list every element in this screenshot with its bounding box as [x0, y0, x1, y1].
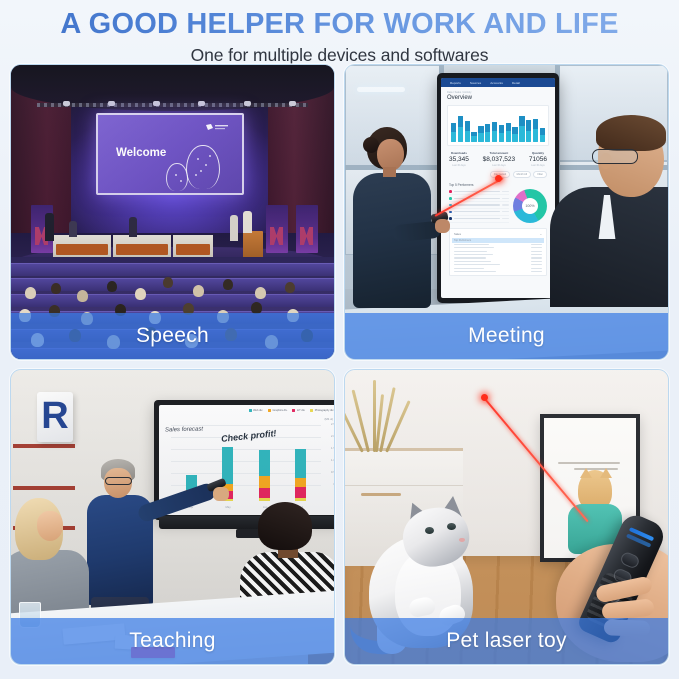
presenter-woman [353, 127, 453, 317]
y-tick-2-5: 2.5 [331, 422, 334, 426]
y-tick-1-0: 1.0 [331, 458, 334, 462]
slide-headline: Welcome [116, 147, 166, 159]
kpi-total-amount: Total amount $8,037,523 Last 30 days [483, 151, 516, 167]
panel-pet-laser-toy[interactable]: Pet laser toy [344, 369, 669, 665]
legend-item-iot: IoT div. [292, 409, 305, 412]
list-item[interactable] [449, 209, 509, 216]
list-item[interactable] [449, 216, 509, 223]
attendee-man [514, 119, 668, 319]
panel-meeting[interactable]: Reports Sources Accounts Detail Data / S… [344, 64, 669, 360]
chart-y-unit: (Mil. £) [324, 417, 333, 421]
tab-detail[interactable]: Detail [512, 81, 520, 85]
kpi-total-amount-value: $8,037,523 [483, 156, 516, 163]
page-title: A GOOD HELPER FOR WORK AND LIFE [0, 9, 679, 39]
presentation-screen: Welcome [96, 113, 244, 195]
glasses-icon [105, 477, 132, 485]
panel-speech[interactable]: Welcome [10, 64, 335, 360]
performer-list [449, 189, 509, 223]
kpi-total-amount-sub: Last 30 days [483, 164, 516, 167]
panel-caption-speech: Speech [11, 313, 334, 359]
bar-jul [295, 449, 306, 501]
page-header: A GOOD HELPER FOR WORK AND LIFE One for … [0, 0, 679, 66]
y-tick-1-5: 1.5 [331, 446, 334, 450]
dashboard-kicker: Data / Sales / Activity [447, 91, 549, 94]
laser-dot [495, 175, 502, 182]
chart-legend: Web div. Graphics div. IoT div. Photogra… [249, 409, 334, 412]
bar-jun [259, 450, 270, 501]
decor-letter-r: R [37, 392, 73, 442]
kpi-total-amount-label: Total amount [483, 151, 516, 155]
remote-up-button[interactable] [619, 551, 641, 570]
panel-caption-meeting: Meeting [345, 313, 668, 359]
dried-plant [353, 376, 395, 452]
panel-teaching[interactable]: R Web div. Graphics div. IoT div. Photog… [10, 369, 335, 665]
slide-logo-icon [204, 123, 230, 133]
dashboard-tabbar[interactable]: Reports Sources Accounts Detail [441, 78, 555, 87]
laser-dot [481, 394, 488, 401]
panel-caption-pet-laser-toy: Pet laser toy [345, 618, 668, 664]
y-tick-0: 0 [333, 482, 334, 486]
tab-accounts[interactable]: Accounts [490, 81, 503, 85]
legend-item-web: Web div. [249, 409, 263, 412]
y-tick-2-0: 2.0 [331, 434, 334, 438]
feature-panel-grid: Welcome [10, 64, 669, 665]
y-tick-0-5: 0.5 [331, 470, 334, 474]
table-row-selected-label: Top Performers [454, 239, 471, 242]
dashboard-title: Overview [447, 95, 549, 101]
tab-reports[interactable]: Reports [450, 81, 461, 85]
panel-caption-teaching: Teaching [11, 618, 334, 664]
tab-sources[interactable]: Sources [470, 81, 481, 85]
table-title: Sales [454, 232, 461, 236]
glasses-icon [592, 149, 638, 164]
legend-item-photography: Photography div. [310, 409, 334, 412]
legend-item-graphics: Graphics div. [268, 409, 287, 412]
